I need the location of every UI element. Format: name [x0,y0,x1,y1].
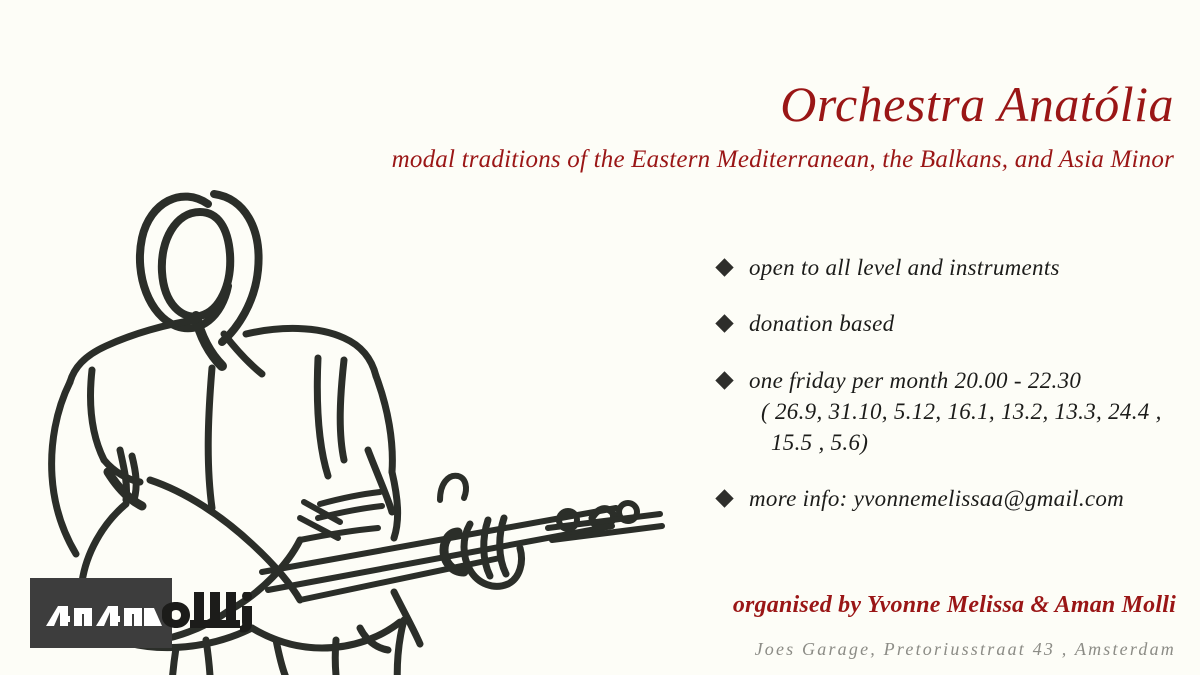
diamond-bullet-icon [715,371,733,389]
dates-line-2: 15.5 , 5.6) [749,427,1162,458]
list-item-text-block: one friday per month 20.00 - 22.30 ( 26.… [749,365,1162,459]
list-item: one friday per month 20.00 - 22.30 ( 26.… [718,365,1186,459]
poster-root: Orchestra Anatólia modal traditions of t… [0,0,1200,675]
diamond-bullet-icon [715,490,733,508]
organiser-credit: organised by Yvonne Melissa & Aman Molli [536,592,1176,619]
logo-wordmark [44,592,294,638]
contact-email-text[interactable]: more info: yvonnemelissaa@gmail.com [749,483,1124,514]
info-list: open to all level and instruments donati… [718,252,1186,540]
diamond-bullet-icon [715,315,733,333]
dates-line-1: ( 26.9, 31.10, 5.12, 16.1, 13.2, 13.3, 2… [749,396,1162,427]
page-subtitle: modal traditions of the Eastern Mediterr… [294,146,1174,174]
list-item: open to all level and instruments [718,252,1186,283]
diamond-bullet-icon [715,258,733,276]
list-item: more info: yvonnemelissaa@gmail.com [718,483,1186,514]
list-item: donation based [718,308,1186,339]
list-item-text: donation based [749,308,894,339]
amanmolli-logo [30,578,285,650]
list-item-text: open to all level and instruments [749,252,1060,283]
schedule-line: one friday per month 20.00 - 22.30 [749,368,1081,393]
venue-address: Joes Garage, Pretoriusstraat 43 , Amster… [536,639,1176,660]
page-title: Orchestra Anatólia [614,78,1174,131]
